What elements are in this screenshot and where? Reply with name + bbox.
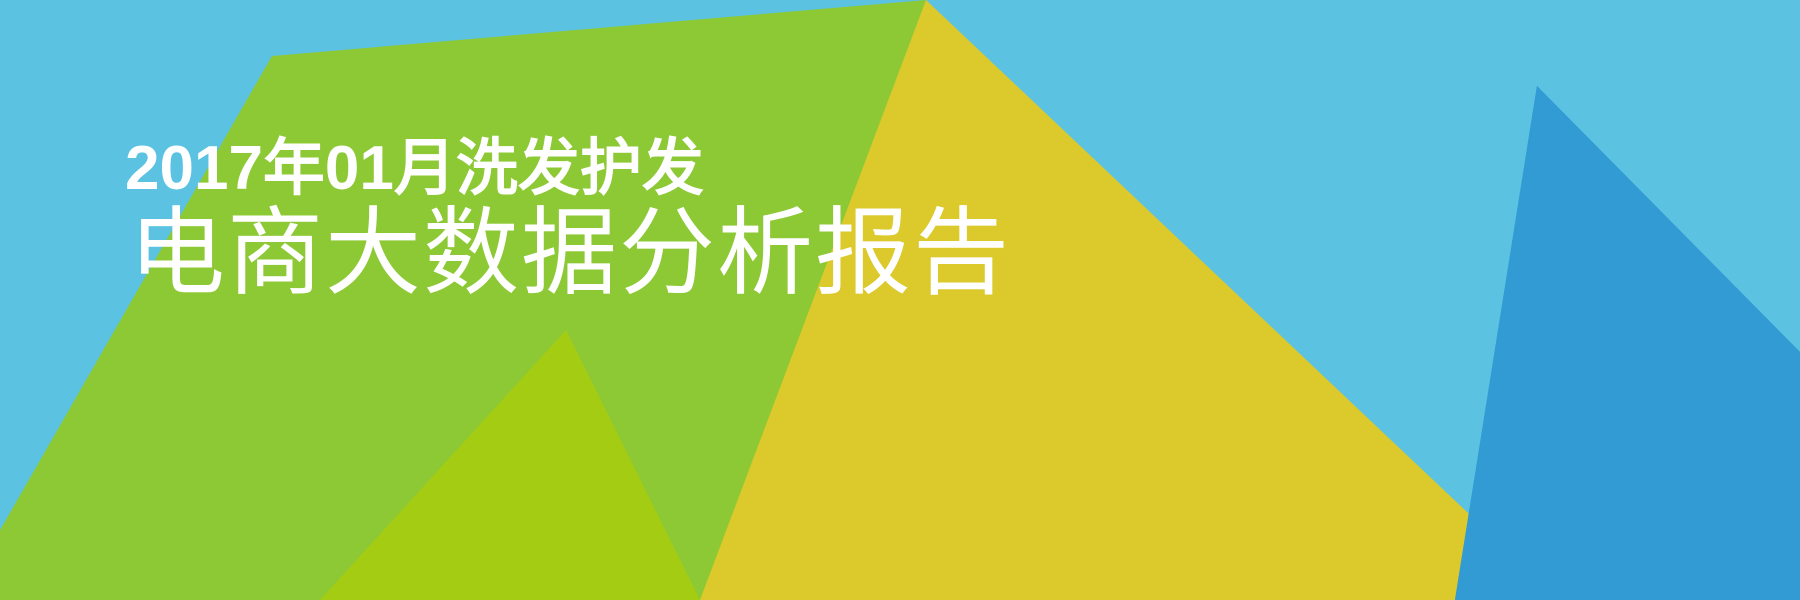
report-cover-banner: 2017年01月洗发护发 电商大数据分析报告 [0,0,1800,600]
background-geometric-artwork [0,0,1800,600]
